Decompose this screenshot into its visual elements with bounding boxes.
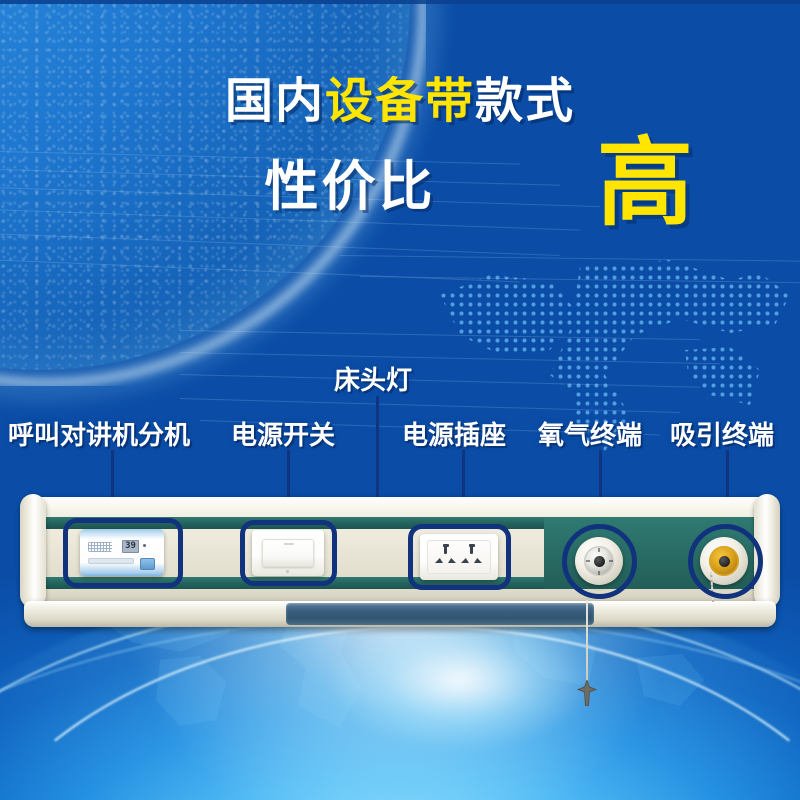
intercom-display: 39 xyxy=(122,540,139,553)
socket-outlet-1-icon xyxy=(433,545,459,567)
speaker-grille-icon xyxy=(88,542,112,552)
nurse-call-intercom-device[interactable]: 39 xyxy=(80,529,164,576)
pull-cord-handle-icon[interactable] xyxy=(576,680,598,706)
socket-outlet-2-icon xyxy=(459,545,485,567)
panel-top-highlight xyxy=(24,497,776,510)
intercom-slot xyxy=(88,558,134,564)
suction-terminal-inner xyxy=(709,546,739,576)
oxygen-terminal-device[interactable] xyxy=(575,537,623,585)
rail-dark-segment xyxy=(286,603,594,625)
rocker-switch[interactable] xyxy=(262,539,314,567)
bedside-lamp-pull-cord[interactable] xyxy=(586,600,588,686)
intercom-call-button[interactable] xyxy=(140,558,155,570)
callout-label-power-socket: 电源插座 xyxy=(402,415,506,452)
poster-canvas: 国内设备带款式 性价比 高 呼叫对讲机分机 电源开关 床头灯 电源插座 氧气终端… xyxy=(0,0,800,800)
callout-label-suction-terminal: 吸引终端 xyxy=(670,415,774,452)
panel-end-cap-right xyxy=(754,494,780,608)
callout-labels: 呼叫对讲机分机 电源开关 床头灯 电源插座 氧气终端 吸引终端 xyxy=(0,0,800,800)
oxygen-terminal-port-icon xyxy=(594,556,605,567)
suction-terminal-port-icon xyxy=(719,556,730,567)
power-socket-device[interactable] xyxy=(420,534,498,580)
power-switch-device[interactable] xyxy=(252,530,324,576)
rocker-mark-icon xyxy=(284,543,294,545)
panel-end-cap-left xyxy=(20,494,46,608)
switch-screw-icon xyxy=(286,570,289,573)
socket-face xyxy=(427,540,491,574)
suction-terminal-device[interactable] xyxy=(700,537,748,585)
oxygen-terminal-inner xyxy=(584,546,614,576)
callout-label-power-switch: 电源开关 xyxy=(231,415,335,452)
callout-label-oxygen-terminal: 氧气终端 xyxy=(538,415,642,452)
callout-label-nurse-call-intercom: 呼叫对讲机分机 xyxy=(8,415,190,452)
indicator-led-icon xyxy=(143,544,146,547)
panel-lower-rail xyxy=(24,601,776,627)
callout-label-bedside-lamp: 床头灯 xyxy=(334,360,412,397)
